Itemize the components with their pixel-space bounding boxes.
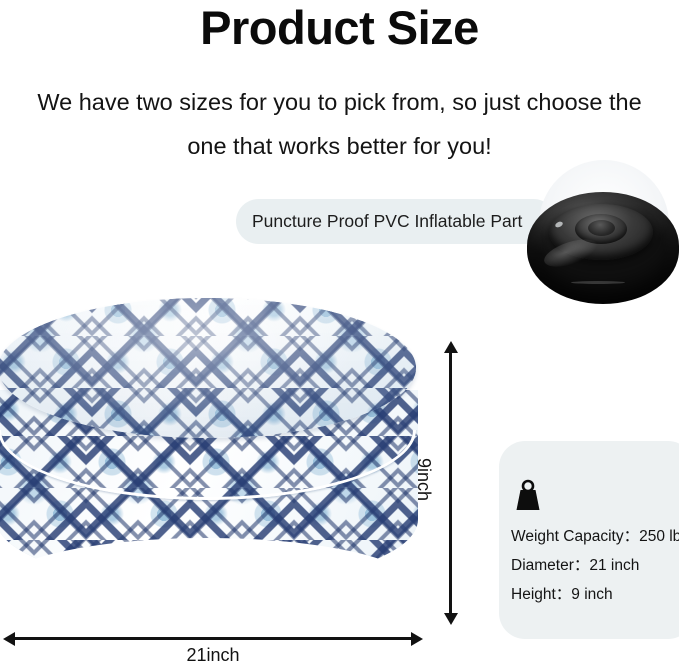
specifications-list: Weight Capacity：250 lbs Diameter：21 inch… [511, 522, 679, 609]
bladder-seam [571, 281, 625, 284]
subtitle-line-1: We have two sizes for you to pick from, … [14, 80, 665, 124]
spec-diameter: Diameter：21 inch [511, 551, 679, 580]
bladder-ring-inner [588, 220, 615, 236]
product-size-infographic: Product Size We have two sizes for you t… [0, 0, 679, 666]
ottoman-top-shading [0, 298, 416, 438]
callout-label: Puncture Proof PVC Inflatable Part [252, 199, 522, 244]
page-subtitle: We have two sizes for you to pick from, … [14, 80, 665, 168]
spec-height: Height：9 inch [511, 580, 679, 609]
page-title: Product Size [0, 0, 679, 56]
spec-weight-capacity: Weight Capacity：250 lbs [511, 522, 679, 551]
height-dimension-label: 9inch [413, 458, 434, 501]
height-dimension-arrow [449, 352, 452, 614]
ottoman-top-surface [0, 298, 416, 438]
pvc-inflatable-bladder-image [515, 160, 679, 305]
ottoman-product-image [0, 298, 418, 614]
weight-icon [513, 479, 543, 511]
width-dimension-arrow [14, 637, 412, 640]
width-dimension-label: 21inch [0, 645, 426, 666]
